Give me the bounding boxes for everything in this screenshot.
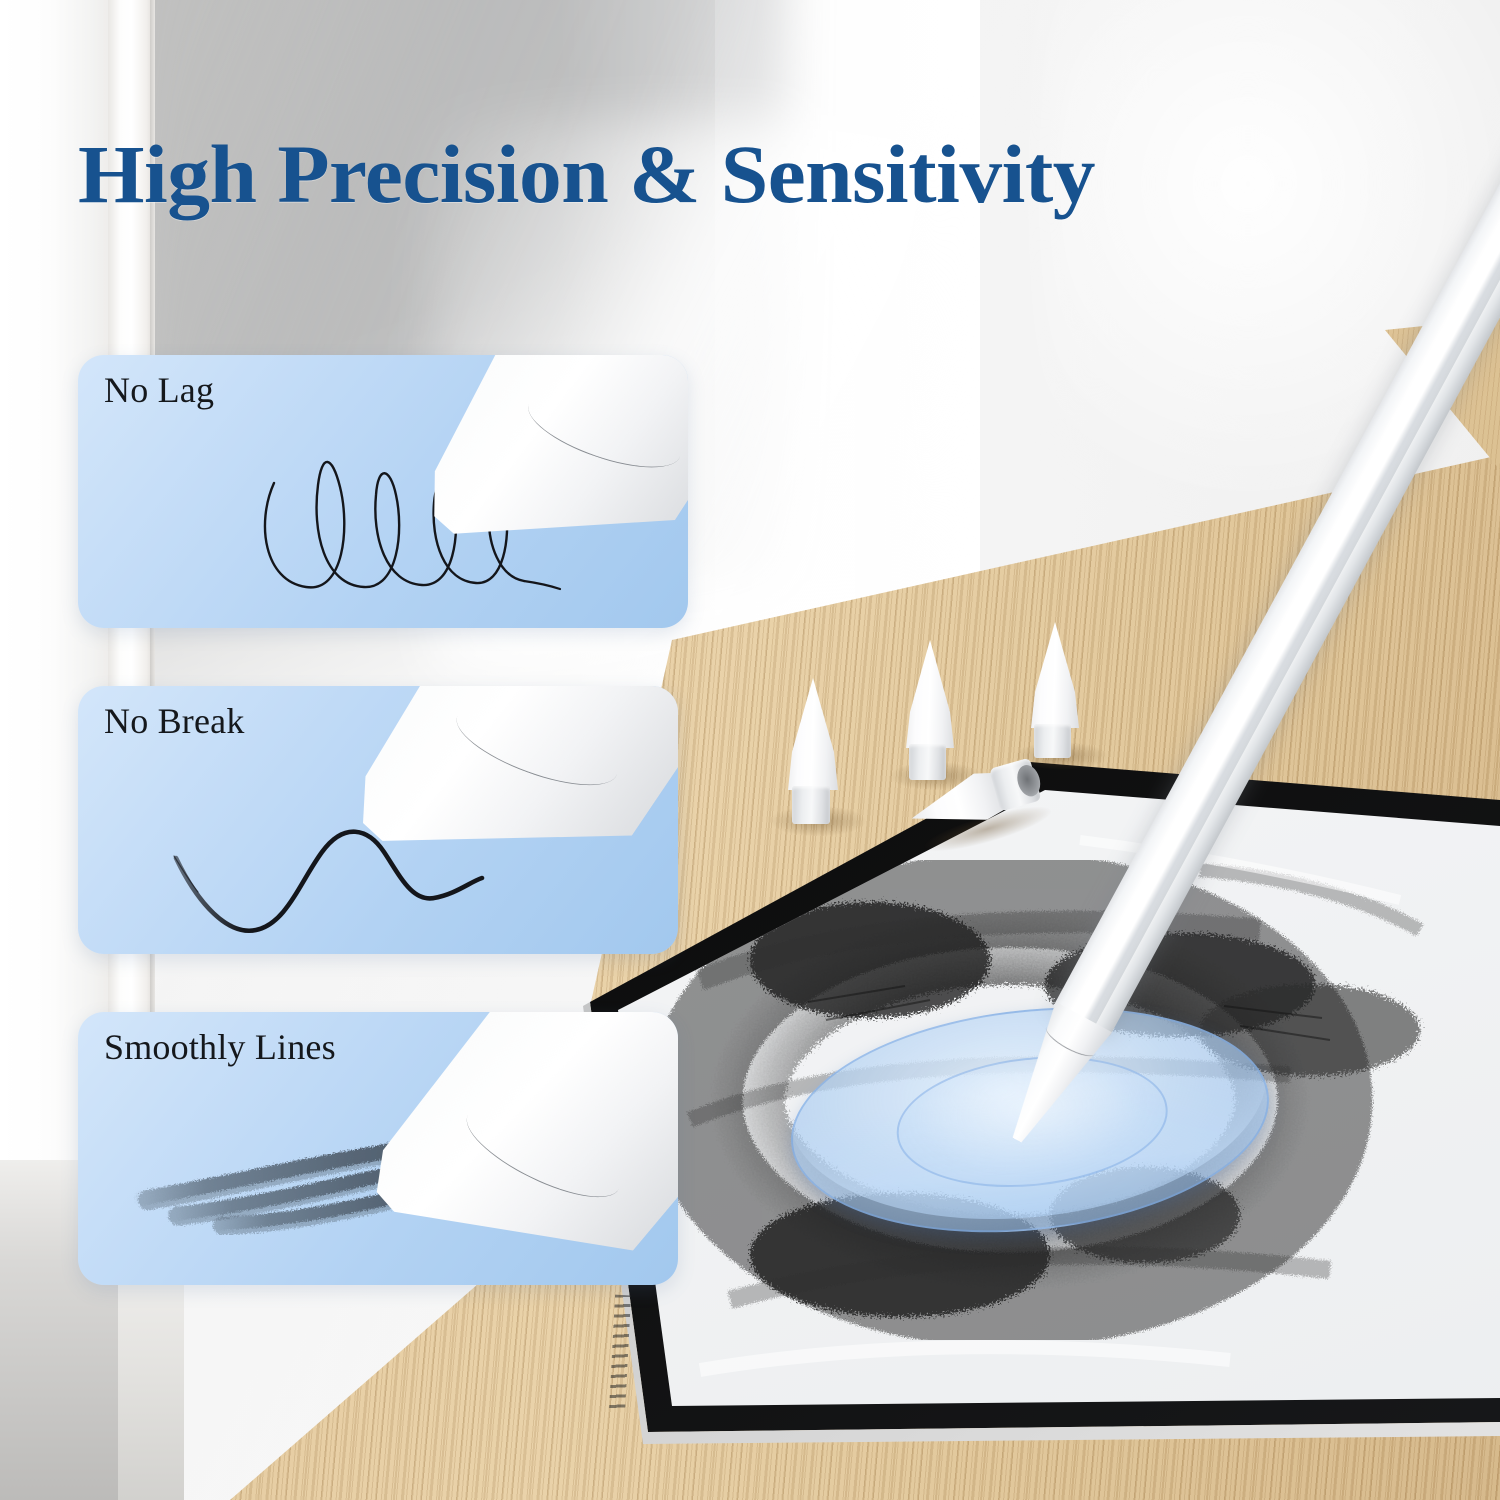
tip-cone [904,640,956,748]
tablet-speaker-grille [609,1295,631,1414]
tip-collar [1034,724,1071,758]
feature-card-label: No Lag [104,369,214,411]
page-title: High Precision & Sensitivity [78,133,1095,216]
feature-card-smoothly-lines[interactable]: Smoothly Lines [78,1012,678,1285]
product-feature-image: High Precision & Sensitivity No Lag [0,0,1500,1500]
feature-card-no-lag[interactable]: No Lag [78,355,688,628]
feature-card-label: Smoothly Lines [104,1026,336,1068]
replacement-pen-tip [900,640,970,788]
feature-card-no-break[interactable]: No Break [78,686,678,954]
tip-cone [1029,622,1081,728]
replacement-pen-tip [782,678,852,830]
tip-cone [786,678,840,790]
tip-collar [792,786,830,824]
feature-card-label: No Break [104,700,245,742]
